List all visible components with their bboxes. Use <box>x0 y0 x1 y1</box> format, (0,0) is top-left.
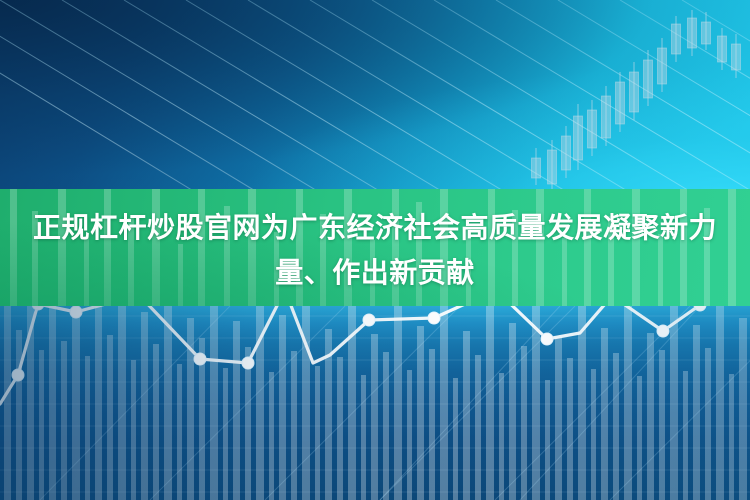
candlestick-group <box>532 10 741 192</box>
stock-market-banner: 正规杠杆炒股官网为广东经济社会高质量发展凝聚新力量、作出新贡献 <box>0 0 750 500</box>
candlestick-body <box>562 136 571 170</box>
candlestick-body <box>588 110 597 148</box>
candlestick-body <box>630 72 639 112</box>
candlestick-body <box>616 82 625 124</box>
sea-tint-overlay <box>0 306 750 500</box>
candlestick-body <box>574 116 583 160</box>
page-title: 正规杠杆炒股官网为广东经济社会高质量发展凝聚新力量、作出新贡献 <box>0 205 750 295</box>
candlestick-body <box>602 96 611 138</box>
bottom-chart-region <box>0 306 750 500</box>
candlestick-body <box>672 24 681 54</box>
candlestick-chart <box>0 0 750 195</box>
candlestick-chart-svg <box>0 0 750 195</box>
candlestick-body <box>702 22 711 44</box>
candlestick-body <box>532 158 541 178</box>
candlestick-body <box>548 150 557 184</box>
candlestick-body <box>718 36 727 62</box>
candlestick-body <box>688 18 697 48</box>
candlestick-body <box>644 60 653 98</box>
candlestick-body <box>658 48 667 84</box>
candlestick-body <box>732 44 741 70</box>
